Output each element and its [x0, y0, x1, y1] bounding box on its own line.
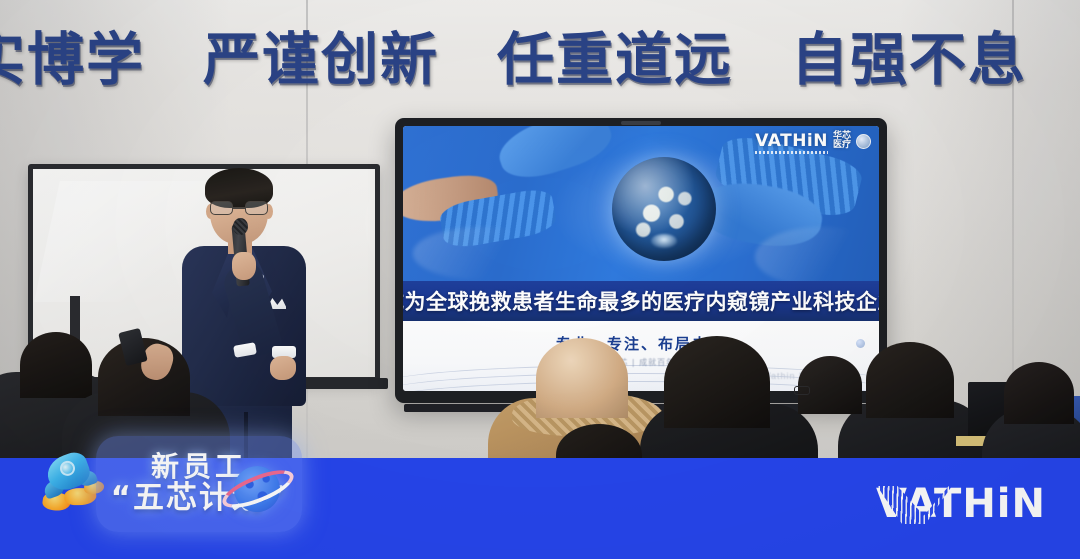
slide-subtitle: 专业、专注、布局未来: [403, 333, 879, 354]
slide-brand-cn: 华芯 医疗: [833, 132, 851, 151]
planet-icon: [222, 460, 294, 522]
display-screen[interactable]: VATHiN 华芯 医疗 成为全球挽救患者生命最多的医疗内窥镜产业科技企业 专业…: [403, 126, 879, 391]
screenshot-scene: 实博学 严谨创新 任重道远 自强不息: [0, 0, 1080, 559]
presenter-hand-right: [232, 252, 256, 280]
slogan-part-3: 任重道远: [497, 32, 733, 89]
slide-brand-logo: VATHiN 华芯 医疗: [755, 132, 871, 151]
audience-head: [1004, 362, 1074, 424]
bottom-banner: 新员工 “五芯计划” VATHiN: [0, 458, 1080, 559]
slide-badge-icon: [856, 134, 871, 149]
audience-head: [20, 332, 92, 398]
glasses-lens-right: [245, 201, 268, 215]
globe-image: [612, 157, 716, 261]
slide-decor-dot: [856, 339, 865, 348]
presenter-hand-left: [270, 356, 296, 380]
audience-glasses-icon: [794, 386, 810, 395]
slide-brand-cn-line2: 医疗: [833, 140, 851, 150]
slogan-part-2: 严谨创新: [203, 32, 439, 89]
slogan-part-4: 自强不息: [791, 32, 1027, 89]
audience-head-bald: [536, 338, 628, 418]
camera-icon: [621, 121, 661, 125]
banner-brand-logo: VATHiN: [876, 484, 1046, 524]
brand-wordmark: VATHiN: [876, 484, 1046, 524]
vathin-wordmark: VATHiN: [755, 133, 828, 150]
globe-highlight: [651, 234, 677, 248]
slogan-part-1: 实博学: [0, 32, 145, 89]
gown-fold: [413, 227, 556, 279]
audience-head: [664, 336, 770, 428]
audience-head: [866, 342, 954, 418]
slide-headline-band: 成为全球挽救患者生命最多的医疗内窥镜产业科技企业: [403, 281, 879, 321]
microphone-head-icon: [233, 218, 248, 235]
slide-photo: VATHiN 华芯 医疗: [403, 126, 879, 301]
glasses-icon: [210, 201, 268, 215]
audience-head: [798, 356, 862, 414]
gloved-hand-top: [493, 126, 618, 188]
wall-slogan: 实博学 严谨创新 任重道远 自强不息: [0, 22, 1080, 98]
glasses-lens-left: [210, 201, 233, 215]
glasses-bridge: [233, 207, 245, 209]
slide-headline: 成为全球挽救患者生命最多的医疗内窥镜产业科技企业: [403, 286, 879, 316]
gown-fold: [755, 227, 879, 286]
